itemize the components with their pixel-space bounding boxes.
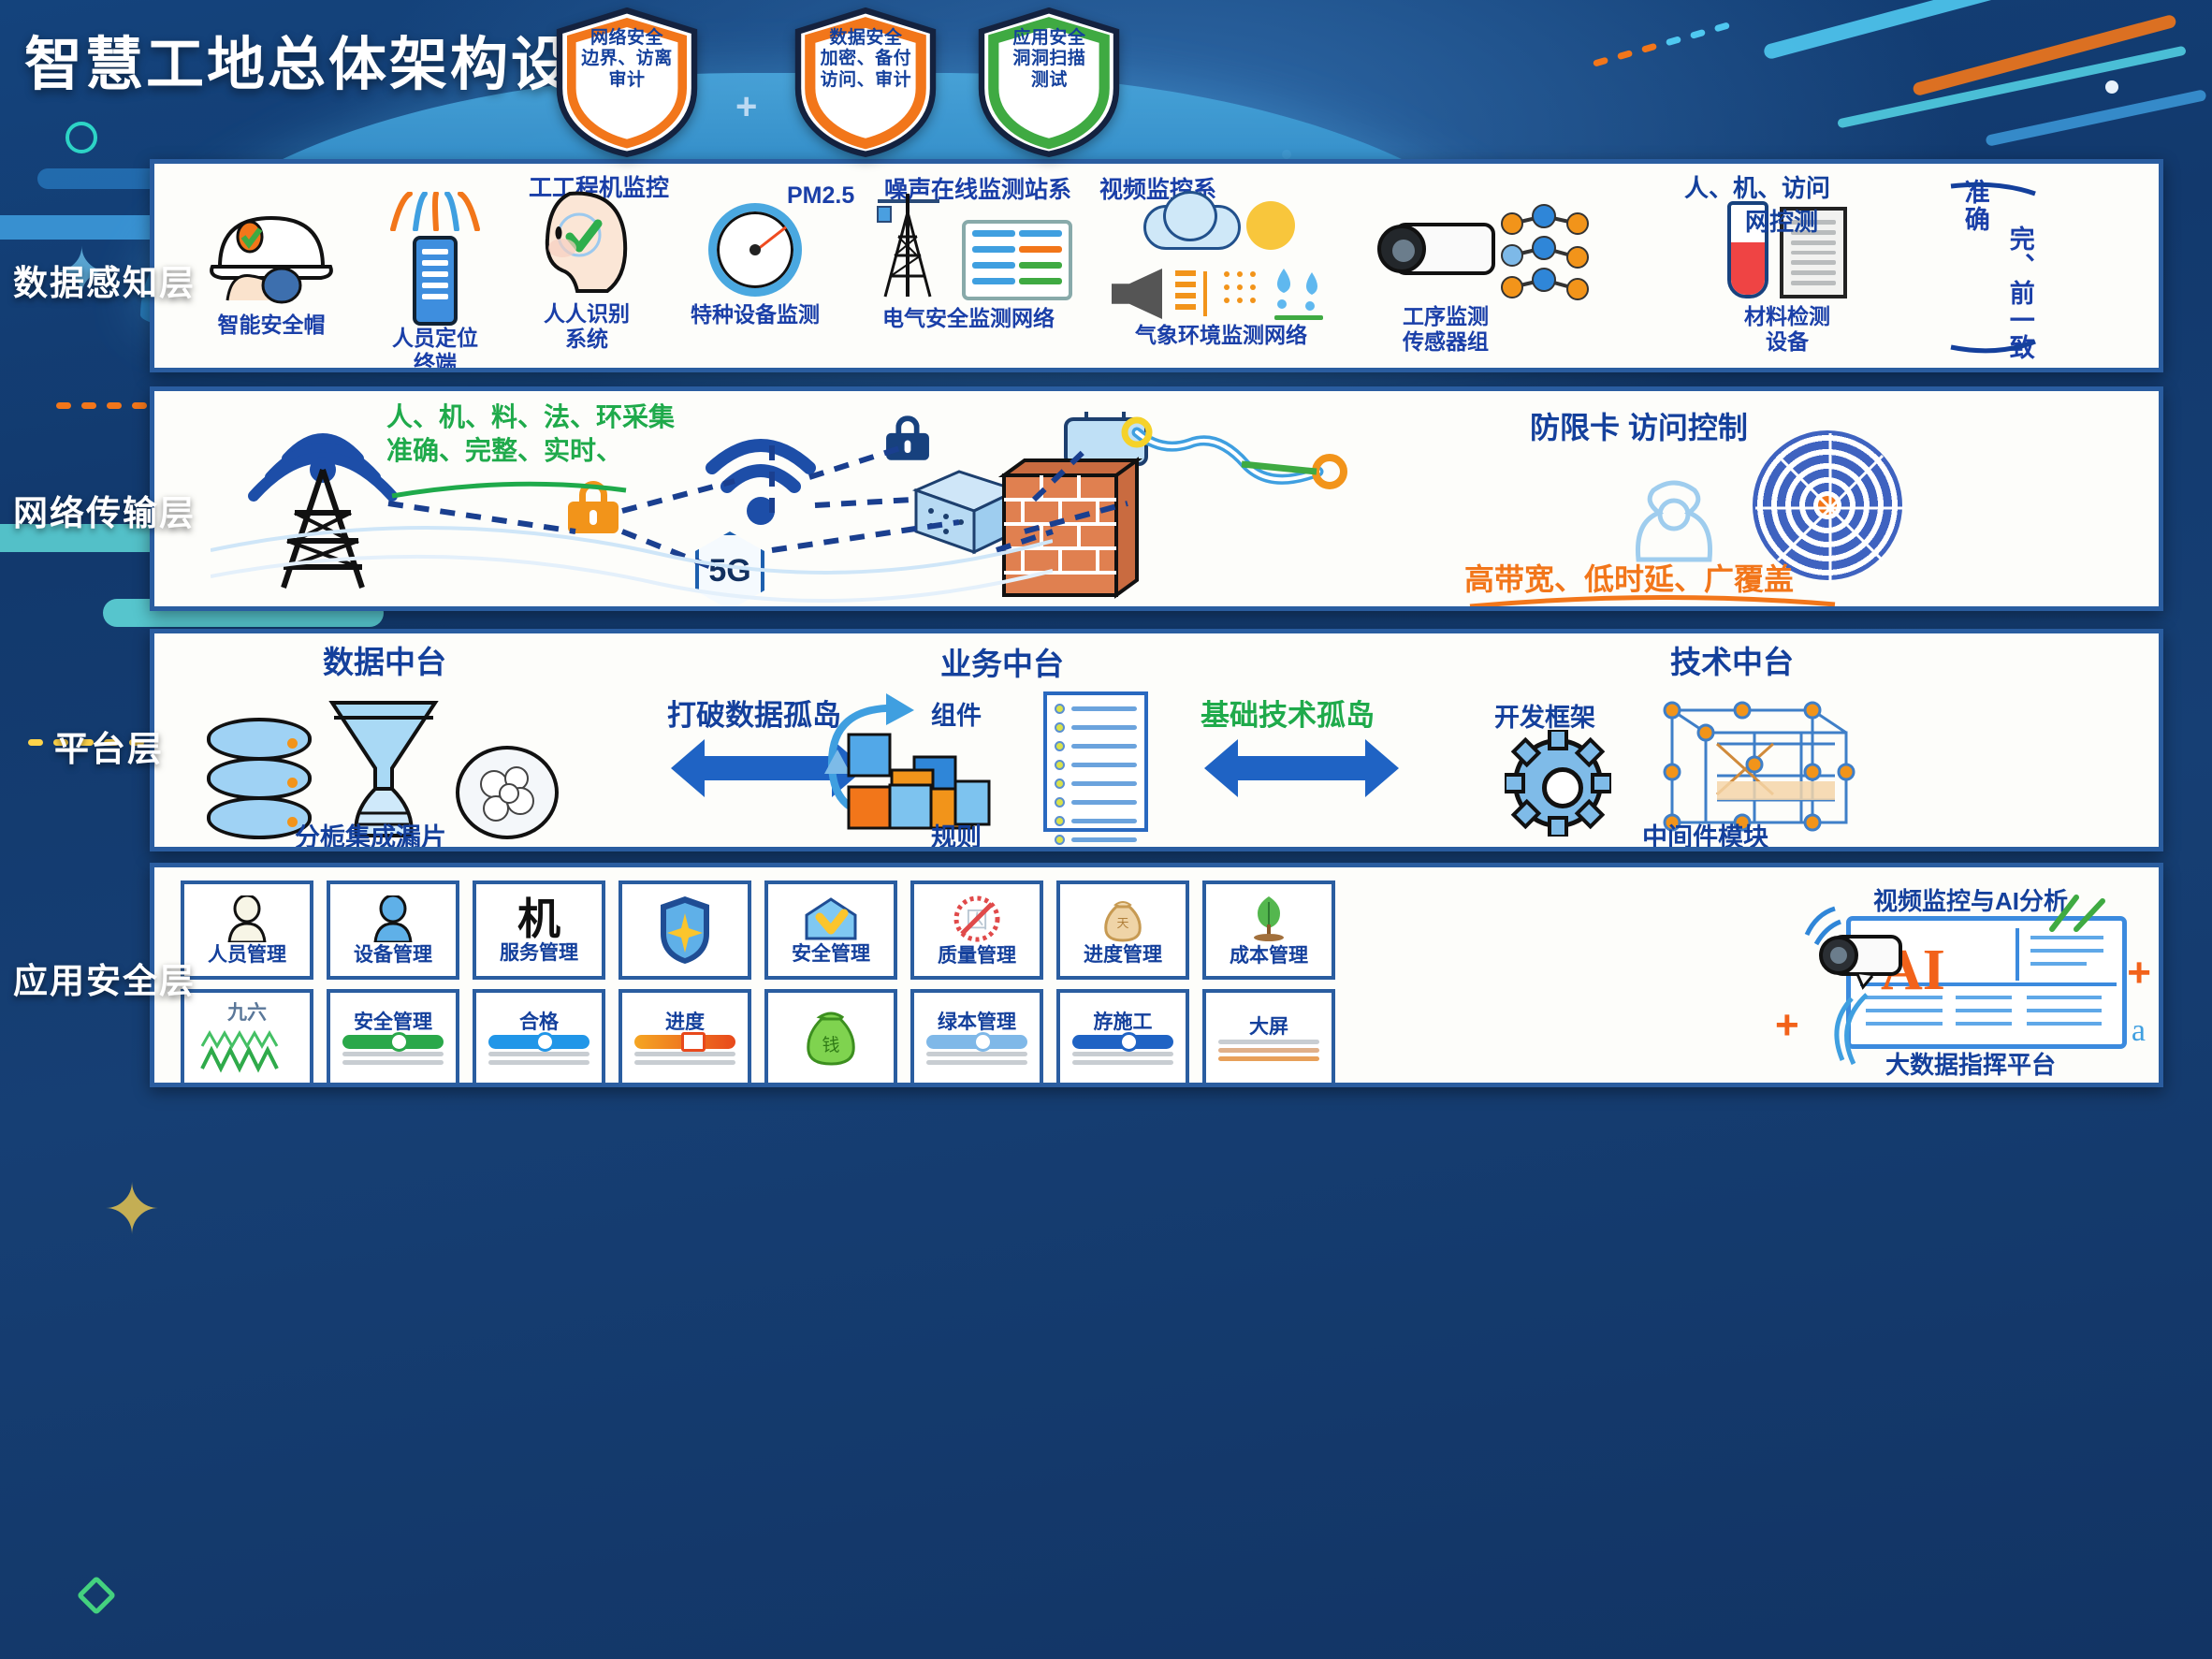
tile-quality-management[interactable]: 囚 质量管理 [910, 880, 1043, 980]
tile-label: 安全管理 [354, 1012, 432, 1032]
green-chart-icon [196, 1026, 298, 1074]
business-midplatform-title: 业务中台 [940, 639, 1064, 684]
sensing-note-mid: 网控测 [1745, 203, 1818, 238]
shield-star-icon [658, 895, 712, 966]
sensing-note-brackets [1942, 173, 2082, 360]
cloud-sun-icon [1142, 192, 1301, 265]
no-entry-icon: 囚 [953, 895, 1001, 943]
material-testing-caption: 材料检测 设备 [1680, 304, 1895, 354]
application-tile-grid: 人员管理 设备管理 机 服务管理 安全管理 [181, 880, 1335, 1087]
middleware-caption: 中间件模块 [1642, 817, 1768, 851]
bg-streak [1985, 89, 2206, 147]
tile-money[interactable]: 钱 [764, 989, 897, 1087]
plus-icon: + [2127, 950, 2151, 997]
tile-label: 进度管理 [1084, 945, 1162, 965]
bg-dot [65, 122, 97, 153]
tile-label: 人员管理 [208, 945, 286, 965]
tile-construction[interactable]: 斿施工 [1056, 989, 1189, 1087]
tile-personnel-management[interactable]: 人员管理 [181, 880, 313, 980]
weather-env-caption: 气象环境监测网络 [1090, 323, 1352, 348]
network-green-line2: 准确、完整、实时、 [386, 434, 675, 468]
tile-jiuliu[interactable]: 九六 [181, 989, 313, 1087]
tile-cost-management[interactable]: 成本管理 [1202, 880, 1335, 980]
panel-platform-layer: 数据中台 业务中台 技术中台 分栀集成漏片 打破数据孤岛 [150, 629, 2163, 851]
data-midplatform-caption: 分栀集成漏片 [295, 817, 446, 851]
personnel-locator[interactable]: 人员定位 终端 [365, 192, 505, 372]
panel-application-layer: 人员管理 设备管理 机 服务管理 安全管理 [150, 863, 2163, 1087]
bg-streak [1763, 0, 2065, 60]
tile-qualified-slider[interactable]: 合格 [473, 989, 605, 1087]
dot-matrix-icon [1220, 269, 1259, 319]
face-recognition-icon [521, 188, 652, 297]
shield-line: 访问、审计 [791, 70, 940, 91]
layer-label-platform: 平台层 [54, 720, 164, 771]
shield-line: 数据安全 [791, 28, 940, 49]
shield-line: 洞洞扫描 [974, 49, 1124, 69]
shield-line: 网络安全 [552, 28, 702, 49]
network-green-line1: 人、机、料、法、环采集 [386, 400, 675, 434]
orange-underline [1466, 593, 1841, 611]
tile-label: 绿本管理 [938, 1012, 1016, 1032]
plus-icon: + [1775, 1002, 1799, 1049]
shield-line: 边界、访离 [552, 49, 702, 69]
person-filled-icon [371, 895, 415, 942]
light-wave-decor [211, 503, 1053, 606]
home-check-icon [804, 896, 858, 941]
tile-label: 质量管理 [938, 946, 1016, 966]
speaker-icon [1112, 269, 1162, 319]
person-outline-icon [226, 895, 269, 942]
network-green-note: 人、机、料、法、环采集 准确、完整、实时、 [386, 400, 675, 469]
svg-text:钱: 钱 [822, 1035, 839, 1055]
tile-progress-management[interactable]: 天 进度管理 [1056, 880, 1189, 980]
money-bag-icon: 天 [1100, 895, 1145, 942]
smart-helmet-caption: 智能安全帽 [182, 313, 360, 338]
base-tech-silo-arrow: 基础技术孤岛 [1201, 691, 1403, 780]
tile-label: 斿施工 [1094, 1012, 1153, 1032]
sensor-network-icon [1499, 199, 1639, 302]
sparkle-icon: ✦ [103, 1170, 161, 1250]
tile-label: 服务管理 [500, 943, 578, 963]
slider-control[interactable] [926, 1035, 1027, 1049]
special-equipment-caption: 特种设备监测 [671, 302, 839, 327]
gear-icon [1513, 738, 1603, 828]
tree-icon [1245, 895, 1292, 943]
shield-line: 加密、备付 [791, 49, 940, 69]
dev-framework-label: 开发框架 [1494, 697, 1595, 734]
network-access-control-note: 防限卡 访问控制 [1530, 404, 1748, 447]
bidirectional-arrow-icon [703, 756, 834, 780]
tile-service-management[interactable]: 机 服务管理 [473, 880, 605, 980]
letter-a-decor: a [2132, 1013, 2146, 1049]
electrical-safety-network[interactable]: 电气安全监测网络 [847, 190, 1090, 331]
security-shields: 网络安全 边界、访离 审计 + 数据安全 加密、备付 访问、审计 应用安全 洞洞… [552, 7, 1124, 157]
machine-char-icon: 机 [517, 897, 560, 940]
bg-dot [2105, 80, 2118, 94]
data-cloud-icon [456, 746, 559, 839]
shield-line: 审计 [552, 70, 702, 91]
personnel-locator-caption: 人员定位 终端 [365, 326, 505, 372]
signal-waves-icon [374, 192, 496, 231]
gauge-icon [708, 203, 802, 297]
layer-label-network: 网络传输层 [13, 485, 196, 535]
crane-tower-icon [865, 190, 951, 300]
data-midplatform-title: 数据中台 [323, 637, 446, 682]
tile-label: 安全管理 [792, 944, 870, 964]
electrical-monitor-icon [962, 220, 1072, 300]
green-accent-lines [2045, 892, 2119, 939]
tile-safety-slider[interactable]: 安全管理 [327, 989, 459, 1087]
base-tech-silo-label: 基础技术孤岛 [1201, 691, 1403, 734]
tech-midplatform-title: 技术中台 [1670, 637, 1794, 682]
panel-sensing-layer: 工工程机监控 PM2.5 噪声在线监测站系 视频监控系 智能安全帽 人员定位 终… [150, 159, 2163, 372]
bg-dash-row [1593, 22, 1730, 66]
camera-icon [1374, 223, 1495, 279]
green-underline [388, 477, 632, 502]
special-equipment-monitor[interactable]: 特种设备监测 [671, 203, 839, 327]
slider-control[interactable] [342, 1035, 444, 1049]
layer-label-sensing: 数据感知层 [13, 255, 196, 305]
shield-network-security[interactable]: 网络安全 边界、访离 审计 [552, 7, 702, 157]
layer-label-application: 应用安全层 [13, 953, 196, 1003]
shield-data-security[interactable]: 数据安全 加密、备付 访问、审计 [791, 7, 940, 157]
ai-analysis-panel: 视频监控与AI分析 AI [1801, 882, 2140, 1077]
electrical-safety-caption: 电气安全监测网络 [847, 306, 1090, 331]
tile-shield[interactable] [618, 880, 751, 980]
camera-icon [1801, 903, 1914, 1006]
shield-line: 应用安全 [974, 28, 1124, 49]
raindrops-icon [1267, 267, 1331, 321]
tile-label: 九六 [227, 1003, 267, 1023]
shield-line: 测试 [974, 70, 1124, 91]
tile-label: 进度 [665, 1012, 705, 1032]
sensing-note-top: 人、机、访问 [1684, 169, 1830, 204]
slider-control[interactable] [634, 1035, 735, 1049]
page-title: 智慧工地总体架构设计 [24, 17, 633, 101]
business-rules-caption: 规则 [931, 817, 982, 851]
component-cubes-icon [834, 727, 1021, 839]
plus-separator: + [735, 86, 757, 128]
ai-panel-footer: 大数据指挥平台 [1801, 1046, 2140, 1081]
face-recognition[interactable]: 人人识别 系统 [512, 188, 662, 351]
locator-phone-icon [413, 236, 458, 326]
svg-text:天: 天 [1116, 916, 1128, 930]
tile-label: 设备管理 [354, 945, 432, 965]
tile-bigscreen[interactable]: 大屏 [1202, 989, 1335, 1087]
green-money-bag-icon: 钱 [803, 1008, 859, 1070]
slider-control[interactable] [488, 1035, 589, 1049]
shield-app-security[interactable]: 应用安全 洞洞扫描 测试 [974, 7, 1124, 157]
noise-bars-icon [1170, 268, 1213, 320]
tile-label: 合格 [519, 1012, 559, 1032]
process-sensor-group[interactable]: 工序监测 传感器组 [1352, 199, 1661, 354]
tile-safety-management[interactable]: 安全管理 [764, 880, 897, 980]
weather-env-network[interactable]: 气象环境监测网络 [1090, 192, 1352, 348]
smart-helmet[interactable]: 智能安全帽 [182, 196, 360, 338]
tile-green-management[interactable]: 绿本管理 [910, 989, 1043, 1087]
smart-helmet-icon [201, 196, 342, 308]
tile-label: 大屏 [1249, 1017, 1288, 1037]
bidirectional-arrow-icon [1236, 756, 1367, 780]
face-recognition-caption: 人人识别 系统 [512, 301, 662, 351]
rules-list-card [1043, 691, 1148, 832]
scribble-lines-icon [1218, 1040, 1319, 1061]
bg-dot [77, 1576, 116, 1615]
tile-label: 成本管理 [1230, 946, 1308, 966]
process-sensor-caption: 工序监测 传感器组 [1352, 304, 1539, 354]
slider-control[interactable] [1072, 1035, 1173, 1049]
tile-progress-slider[interactable]: 进度 [618, 989, 751, 1087]
tile-equipment-management[interactable]: 设备管理 [327, 880, 459, 980]
panel-network-layer: 5G 5G [150, 386, 2163, 611]
